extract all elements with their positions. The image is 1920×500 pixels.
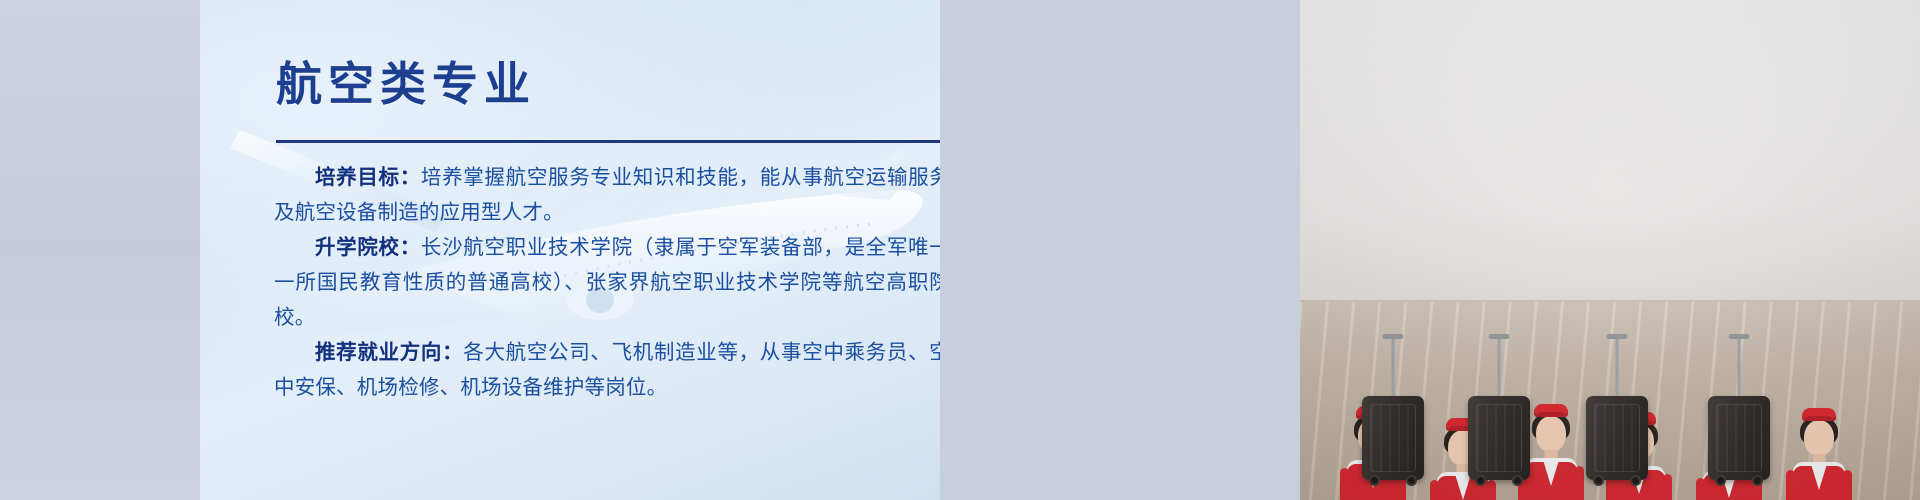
paragraph-schools: 升学院校：长沙航空职业技术学院（隶属于空军装备部，是全军唯一一所国民教育性质的普… (274, 230, 940, 335)
page-title: 航空类专业 (276, 48, 536, 114)
paragraph-lead-training-goal: 培养目标： (315, 166, 421, 189)
body-copy: 培养目标：培养掌握航空服务专业知识和技能，能从事航空运输服务及航空设备制造的应用… (274, 160, 940, 405)
left-margin-band (0, 0, 200, 500)
title-divider (276, 140, 940, 143)
crew-photo (1300, 0, 1920, 500)
info-panel: 航空类专业 培养目标：培养掌握航空服务专业知识和技能，能从事航空运输服务及航空设… (200, 0, 940, 500)
paragraph-career: 推荐就业方向：各大航空公司、飞机制造业等，从事空中乘务员、空中安保、机场检修、机… (274, 335, 940, 405)
paragraph-lead-schools: 升学院校： (315, 236, 421, 259)
banner-root: 航空类专业 培养目标：培养掌握航空服务专业知识和技能，能从事航空运输服务及航空设… (0, 0, 1920, 500)
paragraph-training-goal: 培养目标：培养掌握航空服务专业知识和技能，能从事航空运输服务及航空设备制造的应用… (274, 160, 940, 230)
photo-vignette (1300, 0, 1920, 500)
paragraph-lead-career: 推荐就业方向： (315, 341, 463, 364)
